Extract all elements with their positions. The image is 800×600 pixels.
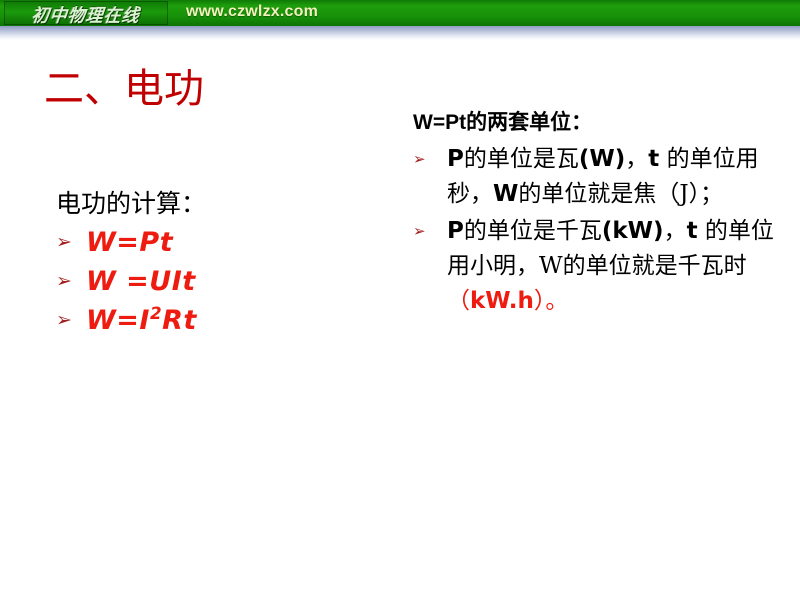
site-banner: 初中物理在线 www.czwlzx.com	[0, 0, 800, 26]
arrow-bullet-icon: ➢	[56, 226, 86, 260]
site-url-text: www.czwlzx.com	[186, 3, 318, 21]
list-item: ➢ P的单位是瓦(W)，t 的单位用秒，W的单位就是焦（J）；	[413, 142, 791, 212]
formula-section-heading: 电功的计算：	[56, 188, 356, 220]
formula-base: W=I	[86, 305, 150, 336]
text-run: 的单位是千瓦	[464, 218, 602, 244]
units-text: P的单位是瓦(W)，t 的单位用秒，W的单位就是焦（J）；	[447, 142, 791, 212]
text-run: P	[447, 218, 464, 244]
arrow-bullet-icon: ➢	[413, 214, 447, 249]
text-run: 的单位就是焦（J）；	[518, 181, 723, 207]
list-item: ➢ W =UIt	[56, 265, 356, 299]
arrow-bullet-icon: ➢	[413, 142, 447, 177]
text-run: （	[447, 288, 470, 314]
banner-gradient-divider	[0, 26, 800, 40]
formula-section: 电功的计算： ➢ W=Pt ➢ W =UIt ➢ W=I2Rt	[56, 188, 356, 343]
formula-text: W=I2Rt	[86, 304, 197, 338]
text-run: W	[493, 181, 518, 207]
units-section: W=Pt的两套单位： ➢ P的单位是瓦(W)，t 的单位用秒，W的单位就是焦（J…	[413, 108, 791, 321]
text-run: (kW)	[602, 218, 664, 244]
units-section-heading: W=Pt的两套单位：	[413, 108, 791, 138]
text-run: ，	[625, 146, 648, 172]
list-item: ➢ W=Pt	[56, 226, 356, 260]
text-run: t	[687, 218, 698, 244]
formula-tail: Rt	[162, 305, 197, 336]
formula-text: W=Pt	[86, 226, 173, 260]
arrow-bullet-icon: ➢	[56, 265, 86, 299]
list-item: ➢ P的单位是千瓦(kW)，t 的单位用小明，W的单位就是千瓦时（kW.h）。	[413, 214, 791, 319]
units-text: P的单位是千瓦(kW)，t 的单位用小明，W的单位就是千瓦时（kW.h）。	[447, 214, 791, 319]
text-run: t	[648, 146, 659, 172]
slide-title: 二、电功	[44, 65, 204, 113]
formula-exponent: 2	[150, 303, 162, 323]
formula-text: W =UIt	[86, 265, 196, 299]
text-run: (W)	[579, 146, 625, 172]
text-run: P	[447, 146, 464, 172]
arrow-bullet-icon: ➢	[56, 304, 86, 338]
text-run: 的单位是瓦	[464, 146, 579, 172]
list-item: ➢ W=I2Rt	[56, 304, 356, 338]
site-logo: 初中物理在线	[4, 1, 168, 25]
text-run: ，	[664, 218, 687, 244]
text-run: ）。	[534, 288, 569, 314]
text-run: kW.h	[470, 288, 534, 314]
site-logo-text: 初中物理在线	[31, 1, 142, 25]
